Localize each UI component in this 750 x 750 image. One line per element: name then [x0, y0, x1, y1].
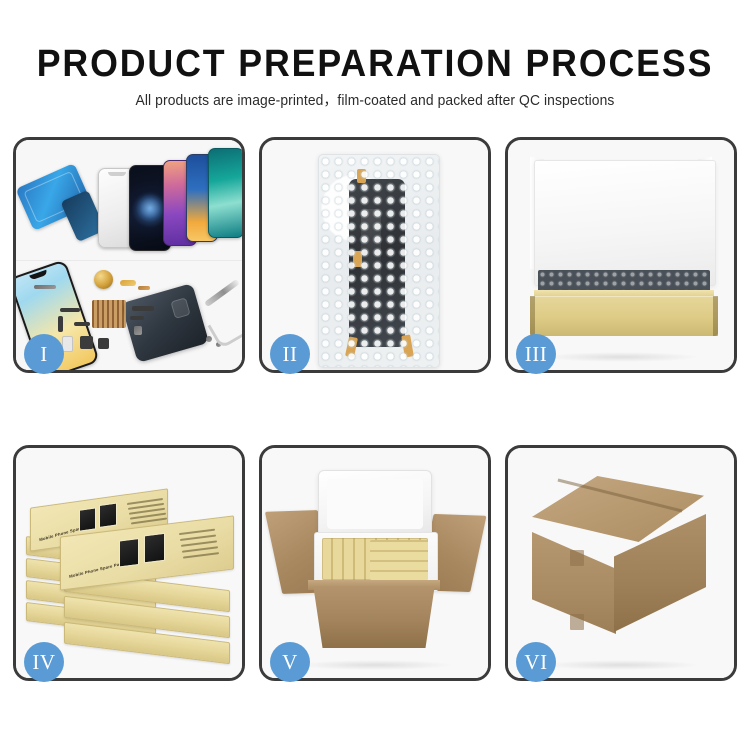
process-step-panel-2[interactable]: II	[259, 137, 491, 373]
carton-tape-upper	[570, 550, 584, 566]
carton-tape-lower	[570, 614, 584, 630]
page-subtitle: All products are image-printed，film-coat…	[11, 84, 739, 110]
spare-part-screw	[206, 336, 212, 342]
box-art-thumb-rear-1	[79, 507, 96, 531]
box-text-line-f3	[181, 540, 217, 546]
process-step-panel-3[interactable]: III	[505, 137, 737, 373]
logic-board-chip	[92, 300, 126, 328]
spare-part-cable-a	[60, 308, 80, 312]
box-art-thumb-rear-2	[99, 502, 117, 528]
box-text-line-f2	[180, 535, 216, 541]
page-header: PRODUCT PREPARATION PROCESS All products…	[0, 0, 750, 110]
process-step-panel-4[interactable]: Mobile Phone Spare Parts Mobile Phone Sp…	[13, 445, 245, 681]
yellow-boxes-inside-right	[370, 540, 428, 580]
spare-part-antenna-2	[130, 316, 144, 320]
spare-part-bracket	[34, 285, 56, 289]
stacked-retail-boxes: Mobile Phone Spare Parts Mobile Phone Sp…	[26, 470, 238, 662]
box-text-line-f4	[182, 546, 218, 552]
spare-part-speaker	[134, 326, 142, 335]
bubble-wrap-bag	[318, 154, 440, 368]
spare-part-camera-module	[80, 336, 93, 349]
box-text-line-r5	[131, 517, 167, 524]
process-step-panel-6[interactable]: VI	[505, 445, 737, 681]
yellow-box-front-panel	[530, 296, 718, 336]
step-badge-2: II	[270, 334, 310, 374]
drop-shadow	[542, 660, 700, 670]
step-badge-3: III	[516, 334, 556, 374]
process-step-grid: I II III	[13, 137, 737, 691]
step-badge-4: IV	[24, 642, 64, 682]
spare-part-taptic	[98, 338, 109, 349]
box-text-line-f5	[183, 552, 219, 558]
spare-part-connector	[138, 286, 150, 290]
box-art-thumb-front-1	[119, 538, 139, 567]
surface-line	[16, 260, 242, 261]
bubble-wrap-texture	[319, 155, 439, 367]
step-badge-6: VI	[516, 642, 556, 682]
spare-part-flex-gold	[120, 280, 136, 286]
process-step-panel-1[interactable]: I	[13, 137, 245, 373]
retail-box-label-front: Mobile Phone Spare Parts	[69, 560, 126, 579]
step-badge-1: I	[24, 334, 64, 374]
box-art-thumb-front-2	[144, 533, 165, 564]
vibration-motor-part	[94, 270, 113, 289]
box-text-line-f1	[179, 529, 215, 535]
drop-shadow	[296, 660, 454, 670]
spare-part-cable-c	[74, 322, 90, 326]
spare-part-cable-b	[58, 316, 63, 332]
step-badge-5: V	[270, 642, 310, 682]
white-foam-sheet	[534, 160, 716, 286]
carton-front-panel	[308, 586, 440, 648]
page-title: PRODUCT PREPARATION PROCESS	[23, 0, 728, 84]
process-step-panel-5[interactable]: V	[259, 445, 491, 681]
spare-part-antenna	[132, 306, 154, 311]
foam-box-lid	[318, 470, 432, 538]
drop-shadow	[542, 352, 700, 362]
phone-teal-display	[208, 148, 242, 238]
